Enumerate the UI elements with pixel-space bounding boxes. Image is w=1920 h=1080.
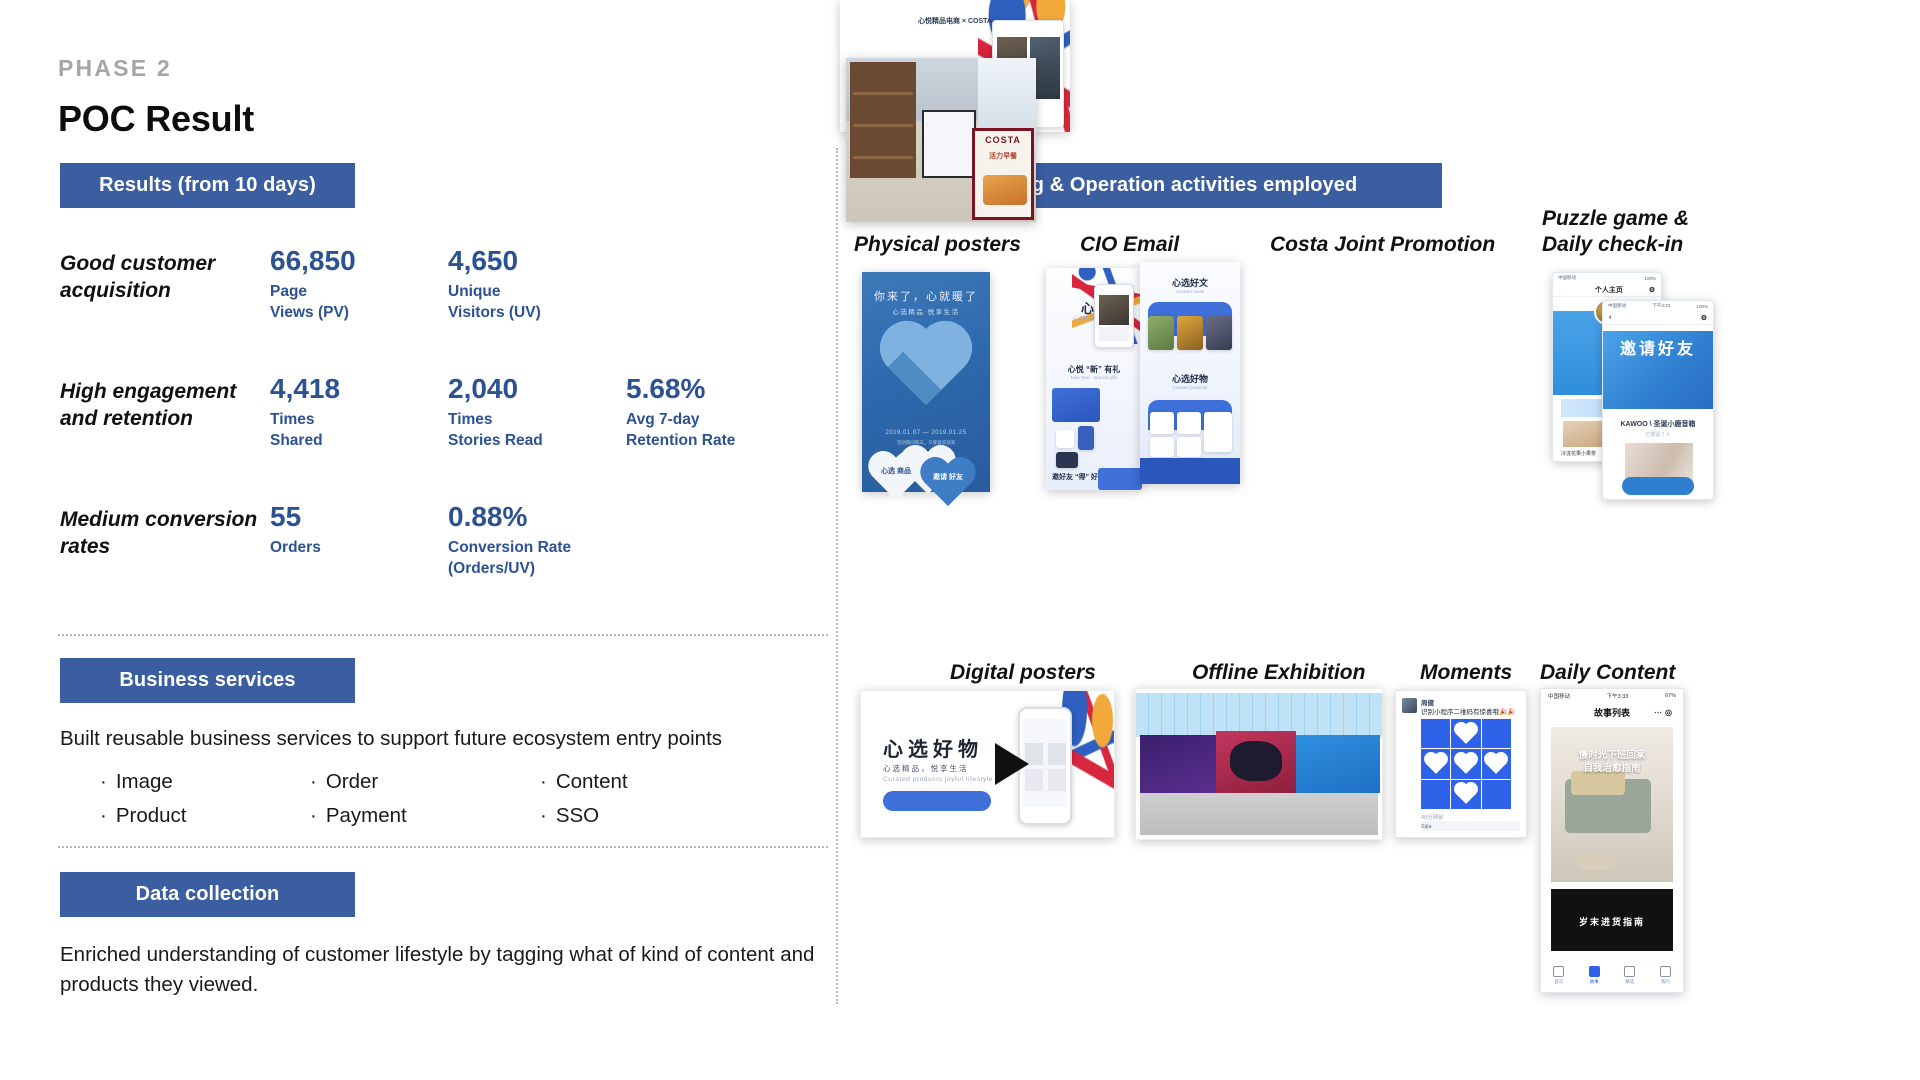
nav-bar: ‹ ⚙: [1603, 311, 1713, 325]
invite-cta-button[interactable]: [1622, 477, 1694, 495]
caption-puzzle-game: Puzzle game & Daily check-in: [1542, 206, 1689, 257]
metric-value: 0.88%: [448, 501, 648, 533]
metric-value: 66,850: [270, 245, 448, 277]
tab-label: 我的: [1661, 979, 1670, 985]
heart-icon: [1426, 754, 1446, 774]
metric-cell: 5.68% Avg 7-day Retention Rate: [626, 373, 826, 451]
metric-caption: Orders: [270, 538, 448, 558]
product-thumb: [1563, 421, 1605, 447]
digital-headline: 心选好物: [883, 733, 983, 762]
moments-text: 识别小程序二维码有惊喜哦🎉🎉: [1421, 706, 1515, 716]
tab-featured[interactable]: 精选: [1624, 966, 1635, 985]
business-services-description: Built reusable business services to supp…: [60, 725, 830, 753]
featured-icon: [1624, 966, 1635, 977]
grid-cell: [1482, 719, 1511, 748]
exhibition-wall-right: [1296, 735, 1380, 793]
dog-illustration: [1577, 854, 1613, 870]
daily-content-phone: 中国移动 下午3:33 67% 故事列表 ⋯◎ 慢时光下班回家 自我治愈指南 岁…: [1540, 688, 1684, 993]
metric-caption: Avg 7-day Retention Rate: [626, 410, 826, 451]
pig-mascot-icon: [1230, 741, 1282, 781]
list-item-label: Order: [326, 770, 378, 793]
digital-posters-image: 心选好物 心选精品，悦享生活 Curated products joyful l…: [860, 690, 1115, 838]
list-item: ·Product: [100, 804, 310, 828]
digital-sub1: 心选精品，悦享生活: [883, 763, 969, 774]
story-hero-line1: 慢时光下班回家: [1579, 750, 1646, 761]
tab-bar: 首页 故事 精选 我的: [1541, 962, 1683, 988]
list-item: ·Order: [310, 770, 540, 794]
cio-invite-banner: [1098, 468, 1142, 490]
heart-card-label: 邀请 好友: [918, 474, 978, 483]
cio-gift-sub: New Year · special gifts: [1046, 375, 1142, 380]
section-divider: [58, 846, 828, 848]
battery-label: 100%: [1644, 276, 1656, 281]
heart-card-label: 心选 商品: [866, 468, 926, 477]
status-bar: 中国移动 下午3:33 100%: [1603, 301, 1713, 311]
cio-gift-card: [1052, 388, 1100, 422]
story-hero-text: 慢时光下班回家 自我治愈指南: [1551, 749, 1673, 776]
bullet-icon: ·: [310, 804, 317, 827]
metric-row-label: High engagement and retention: [60, 373, 270, 433]
grid-cell: [1421, 780, 1450, 809]
metric-value: 2,040: [448, 373, 626, 405]
invite-count: 已邀请 7 人: [1603, 431, 1713, 438]
list-item-label: Image: [116, 770, 173, 793]
heart-icon: [918, 458, 978, 512]
avatar: [1402, 698, 1417, 713]
product-thumb: [1150, 412, 1174, 434]
cio-col2-sub: Curated reads: [1140, 289, 1240, 294]
costa-signboard: COSTA 活力早餐: [972, 128, 1034, 220]
cio-gift-title: 心悦 “新” 有礼: [1046, 364, 1142, 375]
data-collection-chip: Data collection: [60, 872, 355, 917]
tab-stories[interactable]: 故事: [1589, 966, 1600, 985]
bullet-icon: ·: [100, 804, 107, 827]
gear-icon[interactable]: ⚙: [1649, 286, 1655, 294]
grid-cell: [1421, 749, 1450, 778]
column-separator: [836, 148, 838, 1004]
invite-friends-screen: 中国移动 下午3:33 100% ‹ ⚙ 邀请好友 KAWOO \ 圣诞小鹿音箱…: [1602, 300, 1714, 500]
carrier-label: 中国移动: [1548, 692, 1570, 700]
cio-col3-sub: Curated products: [1140, 385, 1240, 390]
product-thumb: [1056, 452, 1078, 468]
metric-cell: 0.88% Conversion Rate (Orders/UV): [448, 501, 648, 579]
list-item-label: Payment: [326, 804, 407, 827]
more-options-icon[interactable]: ⋯◎: [1654, 708, 1675, 717]
results-section-chip: Results (from 10 days): [60, 163, 355, 208]
list-item: ·Payment: [310, 804, 540, 828]
metric-caption: Times Shared: [270, 410, 448, 451]
product-thumb: [1150, 437, 1174, 457]
article-thumb: [1148, 316, 1174, 350]
metric-cell: 66,850 Page Views (PV): [270, 245, 448, 323]
caption-cio-email: CIO Email: [1080, 232, 1179, 258]
costa-sign-title: COSTA: [975, 135, 1031, 145]
grid-cell: [1482, 780, 1511, 809]
tab-home[interactable]: 首页: [1553, 966, 1564, 985]
metrics-block: Good customer acquisition 66,850 Page Vi…: [60, 245, 820, 579]
bullet-icon: ·: [540, 804, 547, 827]
metric-caption: Times Stories Read: [448, 410, 626, 451]
product-thumb: [1204, 412, 1232, 452]
list-item-label: Product: [116, 804, 187, 827]
list-item: ·Content: [540, 770, 740, 794]
list-item-label: Content: [556, 770, 628, 793]
caption-moments: Moments: [1420, 660, 1512, 686]
nav-bar: 个人主页 ⚙: [1553, 283, 1661, 297]
metric-caption: Page Views (PV): [270, 282, 448, 323]
slide-root: PHASE 2 POC Result Results (from 10 days…: [0, 0, 1920, 1080]
tab-label: 首页: [1554, 979, 1563, 985]
stories-icon: [1589, 966, 1600, 977]
metric-row: Good customer acquisition 66,850 Page Vi…: [60, 245, 820, 323]
metric-row: High engagement and retention 4,418 Time…: [60, 373, 820, 451]
metric-value: 4,418: [270, 373, 448, 405]
gear-icon[interactable]: ⚙: [1701, 314, 1707, 322]
tab-label: 故事: [1590, 979, 1599, 985]
metric-caption: Conversion Rate (Orders/UV): [448, 538, 648, 579]
cio-col3-title: 心选好物: [1140, 372, 1240, 385]
grid-cell: [1451, 780, 1480, 809]
moments-image-grid: [1421, 719, 1511, 809]
tab-label: 精选: [1625, 979, 1634, 985]
time-label: 下午3:33: [1607, 692, 1629, 700]
offline-exhibition-image: [1135, 688, 1383, 840]
metric-row: Medium conversion rates 55 Orders 0.88% …: [60, 501, 820, 579]
moments-liker: Sijia: [1421, 824, 1431, 830]
product-thumb: [1078, 426, 1094, 450]
product-thumb: [1177, 412, 1201, 434]
business-services-list: ·Image ·Order ·Content ·Product ·Payment…: [100, 765, 800, 833]
right-column: Marketing & Operation activities employe…: [840, 0, 1920, 1080]
home-icon: [1553, 966, 1564, 977]
costa-sign-subtitle: 活力早餐: [975, 151, 1031, 161]
cio-email-panel-b: 心选好文 Curated reads 心选好物 Curated products: [1140, 262, 1240, 484]
article-thumb: [1177, 316, 1203, 350]
metric-value: 55: [270, 501, 448, 533]
grid-cell: [1451, 719, 1480, 748]
nav-bar: 故事列表 ⋯◎: [1541, 702, 1683, 722]
caption-physical-posters: Physical posters: [854, 232, 1021, 258]
story-hero-image: 慢时光下班回家 自我治愈指南: [1551, 727, 1673, 882]
poster-subline: 心选精品 悦享生活: [862, 306, 990, 316]
heart-card-blue: 邀请 好友: [918, 458, 978, 512]
carrier-label: 中国移动: [1558, 275, 1576, 281]
bullet-icon: ·: [100, 770, 107, 793]
mini-phone-mock: [1094, 284, 1134, 348]
story-hero-line2: 自我治愈指南: [1583, 763, 1640, 774]
nav-title: 个人主页: [1595, 285, 1623, 295]
story-dark-card: 岁末进货指南: [1551, 889, 1673, 951]
story-dark-title: 岁末进货指南: [1551, 915, 1673, 928]
status-bar: 中国移动 下午3:33 67%: [1541, 689, 1683, 702]
nav-title: 故事列表: [1594, 706, 1630, 719]
tab-profile[interactable]: 我的: [1660, 966, 1671, 985]
data-collection-description: Enriched understanding of customer lifes…: [60, 940, 820, 999]
battery-label: 100%: [1696, 304, 1708, 309]
caption-digital-posters: Digital posters: [950, 660, 1096, 686]
caption-offline-exhibition: Offline Exhibition: [1192, 660, 1365, 686]
metric-caption: Unique Visitors (UV): [448, 282, 626, 323]
carrier-label: 中国移动: [1608, 303, 1626, 309]
product-title: 冷泷花果小果茶: [1561, 450, 1596, 457]
poster-date: 2019.01.07 — 2019.01.25: [862, 430, 990, 436]
heart-icon: [1456, 784, 1476, 804]
status-bar: 中国移动 100%: [1553, 273, 1661, 283]
list-item: ·Image: [100, 770, 310, 794]
back-icon[interactable]: ‹: [1609, 314, 1611, 321]
exhibition-wall-left: [1140, 735, 1216, 793]
product-shelf: [850, 62, 916, 178]
caption-costa-promotion: Costa Joint Promotion: [1270, 232, 1495, 258]
product-thumb: [1177, 437, 1201, 457]
invite-product-name: KAWOO \ 圣诞小鹿音箱: [1603, 419, 1713, 429]
food-photo: [983, 175, 1027, 205]
exhibition-wall-center: [1216, 731, 1296, 793]
play-button-icon[interactable]: [995, 743, 1029, 785]
metric-value: 4,650: [448, 245, 626, 277]
list-item-label: SSO: [556, 804, 599, 827]
bullet-icon: ·: [540, 770, 547, 793]
profile-icon: [1660, 966, 1671, 977]
business-services-chip: Business services: [60, 658, 355, 703]
digital-sub2: Curated products joyful lifestyle: [883, 776, 993, 783]
heart-icon: [1486, 754, 1506, 774]
moments-timestamp: 40分钟前: [1421, 813, 1444, 821]
bullet-icon: ·: [310, 770, 317, 793]
caption-daily-content: Daily Content: [1540, 660, 1675, 686]
metric-cell: 55 Orders: [270, 501, 448, 559]
moments-like-bar: [1421, 821, 1520, 831]
metric-value: 5.68%: [626, 373, 826, 405]
cio-col2-title: 心选好文: [1140, 276, 1240, 289]
exhibition-floor: [1140, 793, 1378, 835]
section-divider: [58, 634, 828, 636]
cio-email-panel-a: 心悦 心选精品 悦享生活 心悦 “新” 有礼 New Year · specia…: [1046, 268, 1142, 490]
poster-headline: 你来了，心就暖了: [862, 288, 990, 304]
metric-cell: 4,650 Unique Visitors (UV): [448, 245, 626, 323]
article-thumb: [1206, 316, 1232, 350]
metric-row-label: Good customer acquisition: [60, 245, 270, 305]
moments-post-image: 周健 识别小程序二维码有惊喜哦🎉🎉 40分钟前 Sijia: [1395, 690, 1527, 838]
grid-cell: [1421, 719, 1450, 748]
metric-cell: 2,040 Times Stories Read: [448, 373, 626, 451]
costa-store-photo: COSTA 活力早餐: [846, 58, 1036, 222]
product-thumb: [1056, 430, 1074, 448]
invite-headline: 邀请好友: [1603, 341, 1713, 359]
metric-cell: 4,418 Times Shared: [270, 373, 448, 451]
heart-icon: [1456, 724, 1476, 744]
grid-cell: [1482, 749, 1511, 778]
heart-icon: [1456, 754, 1476, 774]
metric-row-label: Medium conversion rates: [60, 501, 270, 561]
time-label: 下午3:33: [1652, 303, 1670, 309]
digital-badge: [883, 791, 991, 811]
cio-footer-band: [1140, 458, 1240, 484]
promo-standee-board: [922, 110, 976, 178]
grid-cell: [1451, 749, 1480, 778]
list-item: ·SSO: [540, 804, 740, 828]
left-column: Results (from 10 days) Good customer acq…: [0, 0, 840, 1080]
battery-label: 67%: [1665, 693, 1676, 699]
